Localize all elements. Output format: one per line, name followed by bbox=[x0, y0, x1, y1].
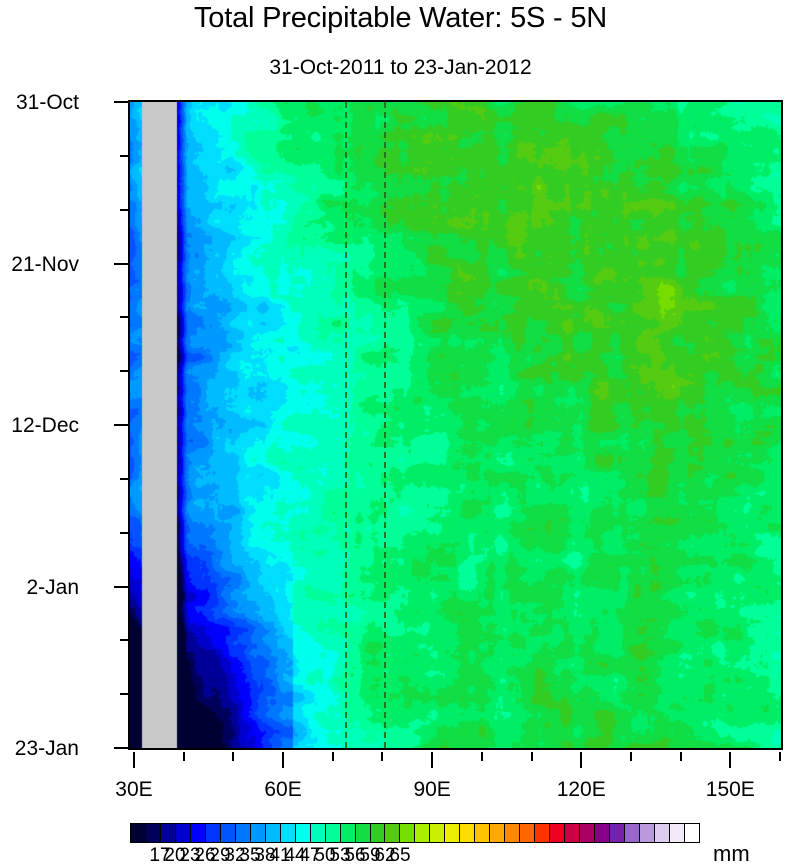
colorbar-cell bbox=[535, 824, 550, 842]
y-axis-label: 2-Jan bbox=[26, 576, 79, 600]
colorbar-cell bbox=[206, 824, 221, 842]
x-axis-tick-minor bbox=[232, 752, 234, 761]
colorbar-cell bbox=[490, 824, 505, 842]
page-title: Total Precipitable Water: 5S - 5N bbox=[0, 2, 801, 35]
x-axis-tick-minor bbox=[531, 752, 533, 761]
page-subtitle: 31-Oct-2011 to 23-Jan-2012 bbox=[0, 56, 801, 80]
colorbar-cell bbox=[356, 824, 371, 842]
y-axis-tick-minor bbox=[120, 478, 128, 480]
x-axis-label: 120E bbox=[557, 778, 606, 802]
colorbar-cell bbox=[640, 824, 655, 842]
colorbar-cell bbox=[460, 824, 475, 842]
colorbar-cell bbox=[146, 824, 161, 842]
colorbar-cell bbox=[415, 824, 430, 842]
y-axis-tick-minor bbox=[120, 209, 128, 211]
colorbar-cell bbox=[565, 824, 580, 842]
x-axis-label: 90E bbox=[413, 778, 450, 802]
colorbar-cell bbox=[326, 824, 341, 842]
colorbar-cell bbox=[670, 824, 685, 842]
y-axis-label: 12-Dec bbox=[11, 414, 79, 438]
x-axis-label: 60E bbox=[264, 778, 301, 802]
colorbar-cell bbox=[266, 824, 281, 842]
colorbar-cell bbox=[191, 824, 206, 842]
y-axis-tick-major bbox=[114, 424, 128, 426]
x-axis-tick-minor bbox=[630, 752, 632, 761]
colorbar-cell bbox=[550, 824, 565, 842]
y-axis-tick-minor bbox=[120, 316, 128, 318]
longitude-marker-line bbox=[384, 102, 386, 748]
colorbar-cell bbox=[595, 824, 610, 842]
y-axis-tick-minor bbox=[120, 370, 128, 372]
y-axis-tick-major bbox=[114, 586, 128, 588]
colorbar-cell bbox=[520, 824, 535, 842]
y-axis-tick-minor bbox=[120, 532, 128, 534]
x-axis-tick-minor bbox=[779, 752, 781, 761]
x-axis-tick-minor bbox=[481, 752, 483, 761]
x-axis-tick-major bbox=[580, 752, 582, 768]
x-axis-label: 150E bbox=[706, 778, 755, 802]
colorbar-cell bbox=[221, 824, 236, 842]
colorbar-units-label: mm bbox=[713, 841, 750, 867]
colorbar-cell bbox=[385, 824, 400, 842]
y-axis-tick-minor bbox=[120, 693, 128, 695]
x-axis-tick-major bbox=[431, 752, 433, 768]
colorbar-cell bbox=[580, 824, 595, 842]
colorbar-cell bbox=[475, 824, 490, 842]
colorbar-cell bbox=[131, 824, 146, 842]
colorbar-cell bbox=[341, 824, 356, 842]
colorbar-cell bbox=[610, 824, 625, 842]
hovmoller-plot bbox=[128, 100, 783, 750]
precipitable-water-field bbox=[130, 102, 781, 748]
colorbar bbox=[130, 823, 700, 843]
colorbar-cell bbox=[371, 824, 386, 842]
x-axis-tick-minor bbox=[332, 752, 334, 761]
colorbar-cell bbox=[236, 824, 251, 842]
colorbar-cell bbox=[176, 824, 191, 842]
x-axis-tick-major bbox=[729, 752, 731, 768]
colorbar-cell bbox=[400, 824, 415, 842]
y-axis-tick-minor bbox=[120, 639, 128, 641]
colorbar-cell bbox=[281, 824, 296, 842]
y-axis-tick-major bbox=[114, 263, 128, 265]
x-axis-tick-minor bbox=[381, 752, 383, 761]
colorbar-cell bbox=[251, 824, 266, 842]
colorbar-cell bbox=[445, 824, 460, 842]
colorbar-cell bbox=[430, 824, 445, 842]
y-axis-label: 23-Jan bbox=[15, 737, 79, 761]
colorbar-cell bbox=[161, 824, 176, 842]
x-axis-tick-minor bbox=[680, 752, 682, 761]
colorbar-cell bbox=[311, 824, 326, 842]
colorbar-cell bbox=[685, 824, 699, 842]
x-axis-tick-major bbox=[133, 752, 135, 768]
y-axis-tick-major bbox=[114, 101, 128, 103]
colorbar-cell bbox=[505, 824, 520, 842]
colorbar-cell bbox=[655, 824, 670, 842]
colorbar-cell bbox=[625, 824, 640, 842]
y-axis-tick-minor bbox=[120, 155, 128, 157]
y-axis-tick-major bbox=[114, 747, 128, 749]
y-axis-label: 31-Oct bbox=[16, 91, 79, 115]
colorbar-cell bbox=[296, 824, 311, 842]
x-axis-tick-major bbox=[282, 752, 284, 768]
x-axis-label: 30E bbox=[115, 778, 152, 802]
colorbar-tick-label: 65 bbox=[389, 845, 410, 867]
x-axis-tick-minor bbox=[183, 752, 185, 761]
y-axis-label: 21-Nov bbox=[11, 253, 79, 277]
longitude-marker-line bbox=[345, 102, 347, 748]
